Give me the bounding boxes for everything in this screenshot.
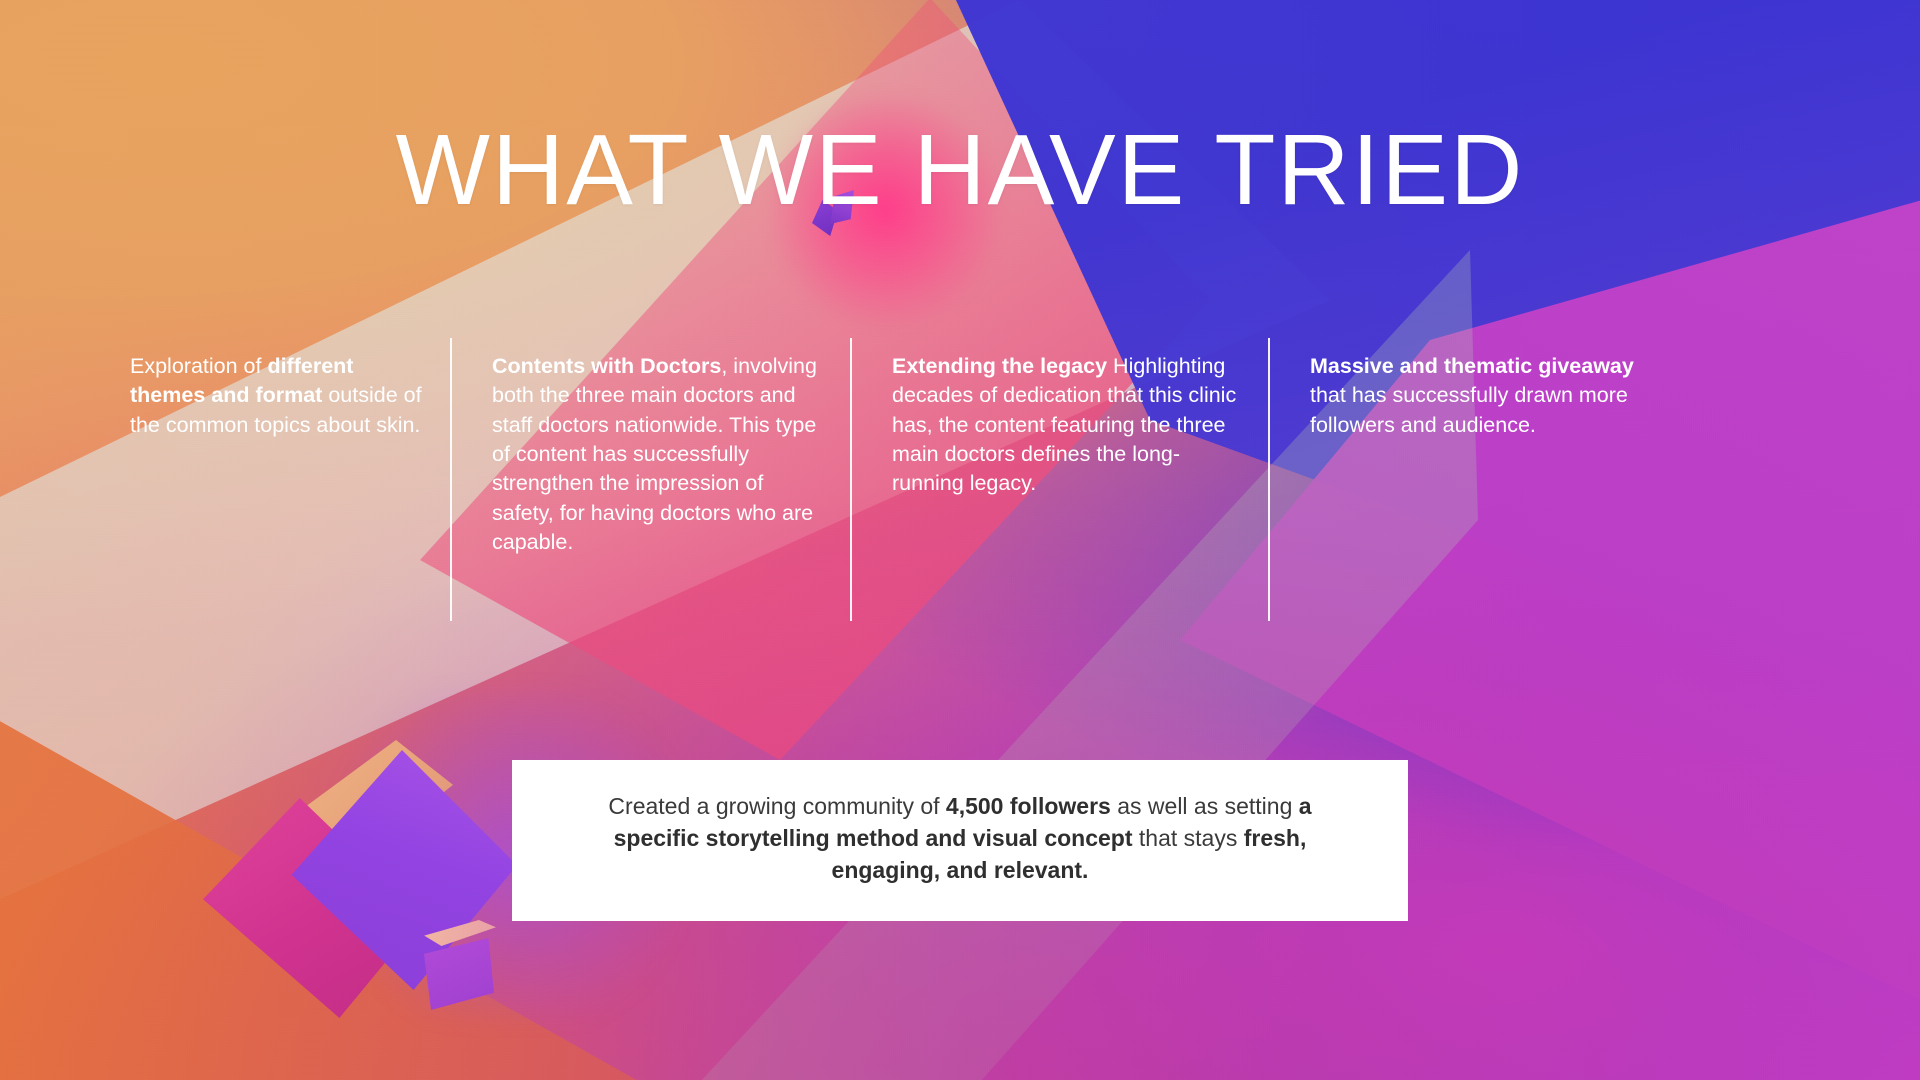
column-extending-the-legacy: Extending the legacy Highlighting decade… <box>850 352 1268 499</box>
page-title: WHAT WE HAVE TRIED <box>0 118 1920 222</box>
slide-canvas: WHAT WE HAVE TRIED Exploration of differ… <box>0 0 1920 1080</box>
column-text: Contents with Doctors, involving both th… <box>492 352 824 557</box>
column-contents-with-doctors: Contents with Doctors, involving both th… <box>450 352 850 557</box>
column-text: Extending the legacy Highlighting decade… <box>892 352 1242 499</box>
column-exploration: Exploration of different themes and form… <box>130 352 450 440</box>
column-text: Massive and thematic giveaway that has s… <box>1310 352 1642 440</box>
feature-columns: Exploration of different themes and form… <box>130 352 1790 557</box>
summary-callout-box: Created a growing community of 4,500 fol… <box>512 760 1408 921</box>
column-divider <box>450 338 452 621</box>
callout-text: Created a growing community of 4,500 fol… <box>608 793 1311 883</box>
column-divider <box>1268 338 1270 621</box>
column-divider <box>850 338 852 621</box>
column-massive-giveaway: Massive and thematic giveaway that has s… <box>1268 352 1668 440</box>
column-text: Exploration of different themes and form… <box>130 352 424 440</box>
slide-content: WHAT WE HAVE TRIED Exploration of differ… <box>0 0 1920 1080</box>
